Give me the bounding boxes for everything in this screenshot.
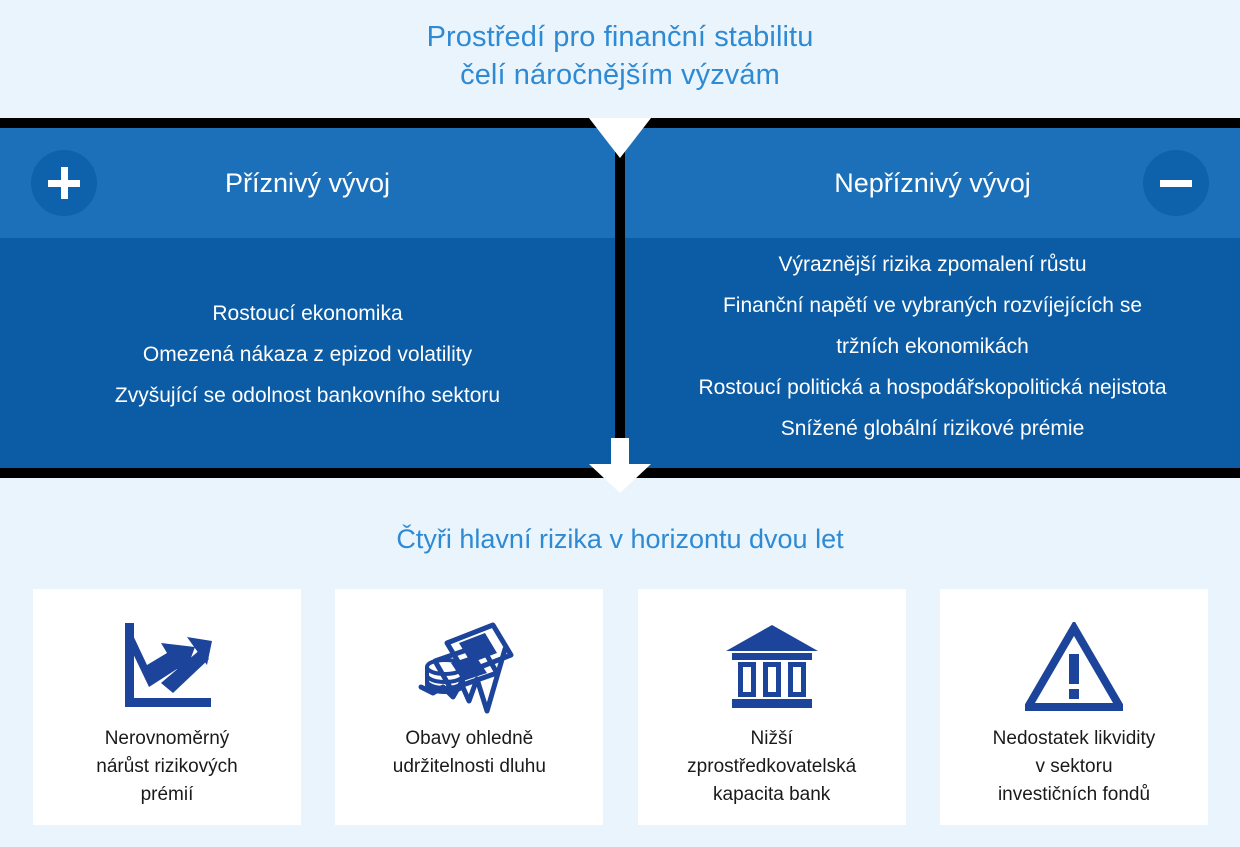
card-label-line: investičních fondů: [993, 781, 1156, 809]
list-item[interactable]: Nedostatek likvidity v sektoru investičn…: [940, 589, 1208, 825]
list-item-label: Obavy ohledně udržitelnosti dluhu: [381, 725, 558, 781]
list-item: Výraznější rizika zpomalení růstu: [639, 244, 1226, 285]
minus-icon-bar: [1160, 180, 1192, 187]
panel-positive-body: Rostoucí ekonomika Omezená nákaza z epiz…: [0, 238, 615, 468]
card-label-line: zprostředkovatelská: [687, 753, 856, 781]
card-label-line: Obavy ohledně: [393, 725, 546, 753]
list-item: Finanční napětí ve vybraných rozvíjející…: [639, 285, 1226, 326]
panel-positive: Příznivý vývoj Rostoucí ekonomika Omezen…: [0, 128, 615, 468]
list-item-label: Nedostatek likvidity v sektoru investičn…: [981, 725, 1168, 809]
list-item: tržních ekonomikách: [639, 326, 1226, 367]
list-item: Snížené globální rizikové prémie: [639, 408, 1226, 449]
card-label-line: v sektoru: [993, 753, 1156, 781]
list-item: Rostoucí politická a hospodářskopolitick…: [639, 367, 1226, 408]
list-item: Omezená nákaza z epizod volatility: [14, 334, 601, 375]
page-title-line-2: čelí náročnějším výzvám: [0, 56, 1240, 94]
card-label-line: Nedostatek likvidity: [993, 725, 1156, 753]
page-title-line-1: Prostředí pro finanční stabilitu: [0, 18, 1240, 56]
risks-heading: Čtyři hlavní rizika v horizontu dvou let: [0, 522, 1240, 556]
list-item: Zvyšující se odolnost bankovního sektoru: [14, 375, 601, 416]
panel-negative: Nepříznivý vývoj Výraznější rizika zpoma…: [625, 128, 1240, 468]
bank-building-icon: [724, 611, 820, 723]
chevron-down-icon: [589, 118, 651, 158]
card-label-line: kapacita bank: [687, 781, 856, 809]
panel-divider: [615, 128, 625, 468]
banknotes-coins-chart-icon: [417, 611, 521, 723]
infographic-root: Prostředí pro finanční stabilitu čelí ná…: [0, 0, 1240, 847]
list-item[interactable]: Nižší zprostředkovatelská kapacita bank: [638, 589, 906, 825]
arrow-down-icon: [589, 438, 651, 493]
list-item[interactable]: Obavy ohledně udržitelnosti dluhu: [335, 589, 603, 825]
developments-section: Příznivý vývoj Rostoucí ekonomika Omezen…: [0, 118, 1240, 478]
list-item-label: Nerovnoměrný nárůst rizikových prémií: [84, 725, 250, 809]
card-label-line: prémií: [96, 781, 238, 809]
plus-icon: [31, 150, 97, 216]
card-label-line: udržitelnosti dluhu: [393, 753, 546, 781]
chart-rising-arrow-icon: [117, 611, 217, 723]
card-label-line: nárůst rizikových: [96, 753, 238, 781]
panel-negative-header: Nepříznivý vývoj: [625, 128, 1240, 238]
panel-positive-header: Příznivý vývoj: [0, 128, 615, 238]
panels-row: Příznivý vývoj Rostoucí ekonomika Omezen…: [0, 128, 1240, 468]
card-label-line: Nižší: [687, 725, 856, 753]
plus-icon-bar-vertical: [61, 167, 68, 199]
minus-icon: [1143, 150, 1209, 216]
card-label-line: Nerovnoměrný: [96, 725, 238, 753]
panel-negative-body: Výraznější rizika zpomalení růstu Finanč…: [625, 238, 1240, 468]
risk-cards: Nerovnoměrný nárůst rizikových prémií: [33, 589, 1208, 825]
warning-triangle-icon: [1025, 611, 1123, 723]
list-item[interactable]: Nerovnoměrný nárůst rizikových prémií: [33, 589, 301, 825]
list-item: Rostoucí ekonomika: [14, 293, 601, 334]
page-title: Prostředí pro finanční stabilitu čelí ná…: [0, 18, 1240, 94]
list-item-label: Nižší zprostředkovatelská kapacita bank: [675, 725, 868, 809]
